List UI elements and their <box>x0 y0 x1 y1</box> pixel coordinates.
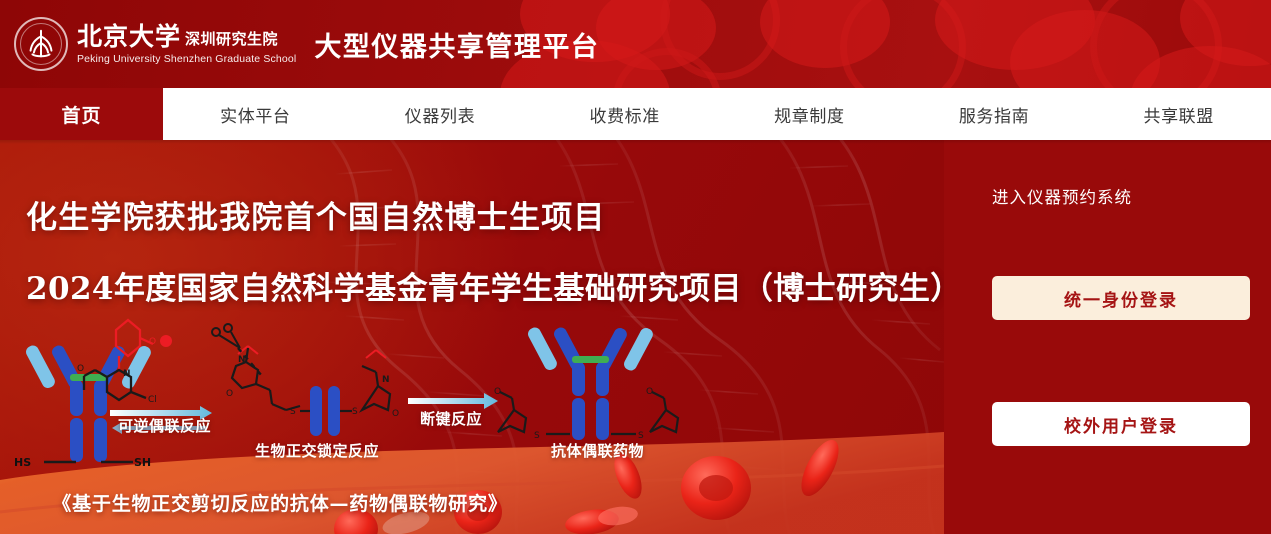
unified-identity-login-button[interactable]: 统一身份登录 <box>992 276 1250 320</box>
nav-item-regulations[interactable]: 规章制度 <box>717 102 902 127</box>
banner-headline-primary: 化生学院获批我院首个国自然博士生项目 <box>26 192 944 237</box>
svg-text:S: S <box>290 407 296 417</box>
page-title: 大型仪器共享管理平台 <box>314 25 599 64</box>
scheme-label-lock: 生物正交锁定反应 <box>255 440 379 461</box>
svg-text:O: O <box>226 389 233 399</box>
brand-subtitle-cn: 深圳研究生院 <box>185 28 278 49</box>
nav-item-home[interactable]: 首页 <box>0 88 163 140</box>
nav-item-entity-platform[interactable]: 实体平台 <box>163 102 348 127</box>
svg-text:O: O <box>77 364 84 374</box>
scheme-label-reversible: 可逆偶联反应 <box>118 415 211 436</box>
nav-item-fee-standard[interactable]: 收费标准 <box>532 102 717 127</box>
svg-text:Cl: Cl <box>148 395 157 405</box>
svg-text:SH: SH <box>134 456 151 469</box>
page-root: 北京大学 深圳研究生院 Peking University Shenzhen G… <box>0 0 1271 534</box>
svg-text:S: S <box>534 431 540 441</box>
svg-text:HS: HS <box>14 456 31 469</box>
svg-text:N: N <box>382 375 390 385</box>
scheme-label-adc: 抗体偶联药物 <box>551 440 644 461</box>
svg-text:S: S <box>352 407 358 417</box>
hero-section: 化生学院获批我院首个国自然博士生项目 2024年度国家自然科学基金青年学生基础研… <box>0 140 1271 534</box>
banner-headlines: 化生学院获批我院首个国自然博士生项目 2024年度国家自然科学基金青年学生基础研… <box>0 140 944 308</box>
brand-name-en: Peking University Shenzhen Graduate Scho… <box>77 53 296 65</box>
login-sidebar: 进入仪器预约系统 统一身份登录 校外用户登录 <box>944 140 1271 534</box>
brand-block: 北京大学 深圳研究生院 Peking University Shenzhen G… <box>77 23 296 65</box>
main-navigation: 首页 实体平台 仪器列表 收费标准 规章制度 服务指南 共享联盟 <box>0 88 1271 140</box>
site-header: 北京大学 深圳研究生院 Peking University Shenzhen G… <box>0 0 1271 88</box>
svg-text:O: O <box>494 387 501 397</box>
nav-item-sharing-alliance[interactable]: 共享联盟 <box>1086 102 1271 127</box>
nav-item-service-guide[interactable]: 服务指南 <box>902 102 1087 127</box>
scheme-label-cleave: 断键反应 <box>420 408 482 429</box>
svg-text:O: O <box>646 387 653 397</box>
news-banner[interactable]: 化生学院获批我院首个国自然博士生项目 2024年度国家自然科学基金青年学生基础研… <box>0 140 944 534</box>
svg-text:O: O <box>392 409 399 419</box>
banner-caption: 《基于生物正交剪切反应的抗体—药物偶联物研究》 <box>0 489 560 516</box>
pku-seal-icon <box>14 17 68 71</box>
nav-item-home-label: 首页 <box>61 101 101 128</box>
external-user-login-button[interactable]: 校外用户登录 <box>992 402 1250 446</box>
svg-text:O: O <box>149 337 156 347</box>
sidebar-title: 进入仪器预约系统 <box>992 184 1245 208</box>
banner-headline-secondary: 2024年度国家自然科学基金青年学生基础研究项目（博士研究生） <box>26 263 944 308</box>
svg-text:N: N <box>123 369 131 379</box>
nav-item-instrument-list[interactable]: 仪器列表 <box>348 102 533 127</box>
brand-name-cn: 北京大学 <box>77 23 181 51</box>
